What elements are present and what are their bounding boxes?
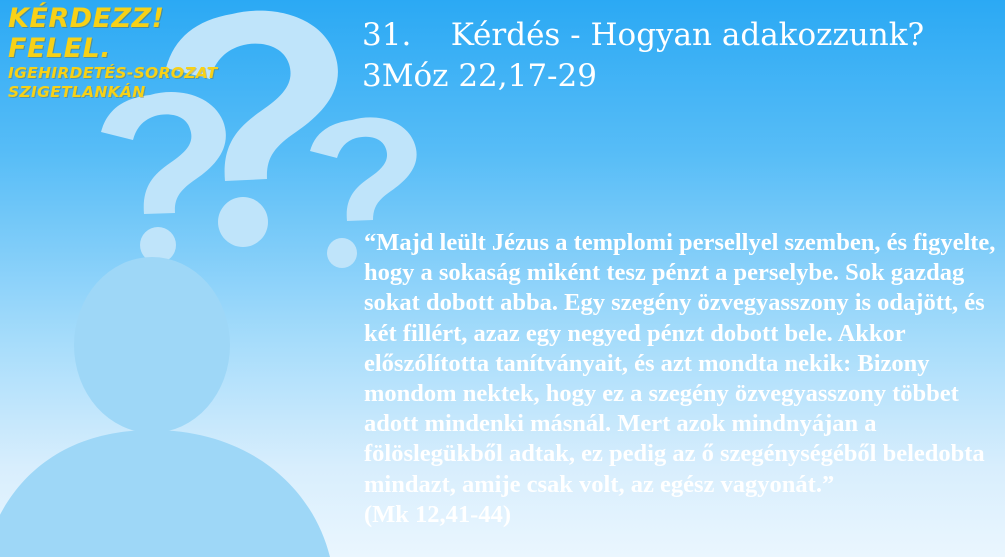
question-mark-medium bbox=[101, 92, 226, 263]
slide-title-text: Kérdés - Hogyan adakozzunk? bbox=[451, 17, 924, 53]
brand-title-line1: KÉRDEZZ! bbox=[8, 4, 268, 34]
scripture-text: “Majd leült Jézus a templomi persellyel … bbox=[364, 228, 1002, 500]
brand-block: KÉRDEZZ! FELEL. IGEHIRDETÉS-SOROZAT SZIG… bbox=[8, 4, 268, 102]
brand-subtitle-line2: SZIGETLANKÁN bbox=[8, 83, 268, 102]
thinking-person-silhouette bbox=[0, 257, 330, 557]
brand-subtitle-line1: IGEHIRDETÉS-SOROZAT bbox=[8, 64, 268, 83]
scripture-block: “Majd leült Jézus a templomi persellyel … bbox=[364, 228, 1002, 530]
title-block: 31. Kérdés - Hogyan adakozzunk? 3Móz 22,… bbox=[362, 14, 1002, 96]
slide-number: 31. bbox=[362, 17, 411, 53]
slide-title-reference: 3Móz 22,17-29 bbox=[362, 56, 1002, 96]
slide-canvas: KÉRDEZZ! FELEL. IGEHIRDETÉS-SOROZAT SZIG… bbox=[0, 0, 1005, 557]
slide-title: 31. Kérdés - Hogyan adakozzunk? bbox=[362, 14, 1002, 56]
scripture-citation: (Mk 12,41-44) bbox=[364, 500, 1002, 530]
brand-title-line2: FELEL. bbox=[8, 34, 268, 64]
